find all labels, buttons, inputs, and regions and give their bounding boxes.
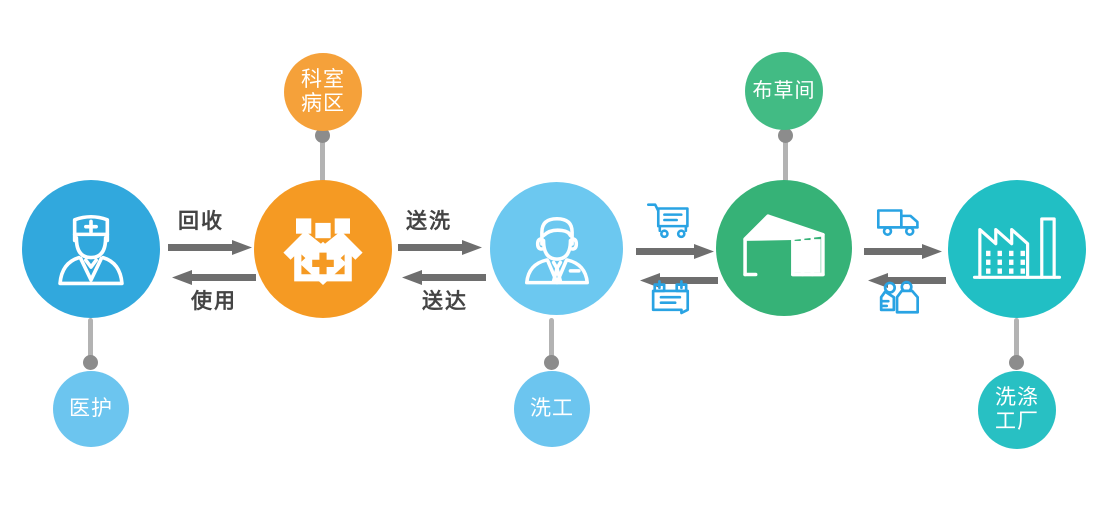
connection-worker-linen [636, 200, 718, 320]
connection-linen-factory [864, 200, 946, 320]
hospital-building-icon [278, 204, 368, 294]
bubble-laundry-worker[interactable]: 洗工 [514, 371, 590, 447]
warehouse-icon-shape [738, 204, 830, 292]
laundry-cart-icon [646, 200, 692, 245]
flow-diagram-canvas: 医护 回收 使用 [0, 0, 1108, 531]
arrow-label-forward-2: 送洗 [406, 205, 452, 235]
factory-icon-shape [971, 205, 1063, 293]
connector-dot-doctor [83, 355, 98, 370]
laundry-worker-icon [515, 207, 599, 291]
connector-dot-laundry-worker [544, 355, 559, 370]
hospital-icon-shape [278, 204, 368, 294]
arrow-label-backward-1: 使用 [191, 285, 237, 315]
delivery-truck-icon [876, 204, 922, 245]
connection-doctor-hospital: 回收 使用 [168, 205, 256, 315]
warehouse-icon [738, 204, 830, 292]
factory-icon [971, 205, 1063, 293]
bubble-wash-factory[interactable]: 洗涤 工厂 [978, 371, 1056, 449]
node-wash-factory[interactable] [948, 180, 1086, 318]
connector-dot-linen-room [778, 128, 793, 143]
receipt-tag-icon [650, 278, 694, 323]
bubble-hospital[interactable]: 科室 病区 [284, 53, 362, 131]
laundry-bags-icon [878, 278, 924, 323]
node-doctor[interactable] [22, 180, 160, 318]
bubble-doctor[interactable]: 医护 [53, 371, 129, 447]
arrow-label-forward-1: 回收 [178, 205, 224, 235]
arrow-label-backward-2: 送达 [422, 285, 468, 315]
bubble-linen-room[interactable]: 布草间 [745, 52, 823, 130]
node-linen-room[interactable] [716, 180, 852, 316]
doctor-nurse-icon [48, 206, 134, 292]
node-laundry-worker[interactable] [490, 182, 623, 315]
node-hospital[interactable] [254, 180, 392, 318]
connection-hospital-worker: 送洗 送达 [398, 205, 486, 315]
connector-dot-factory [1009, 355, 1024, 370]
